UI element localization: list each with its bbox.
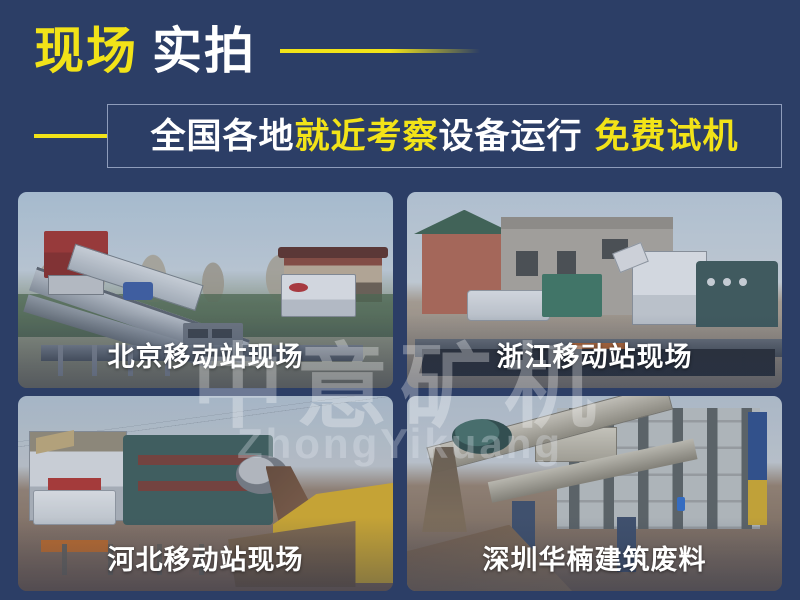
- slogan-box: 全国各地就近考察设备运行免费试机: [107, 104, 782, 168]
- photo-gallery-grid: 北京移动站现场 浙江移动站现场: [18, 192, 782, 591]
- photo-caption-zhejiang: 浙江移动站现场: [407, 335, 782, 374]
- title-rule-divider: [280, 49, 480, 53]
- slogan-part-2: 就近考察: [294, 117, 438, 156]
- header-banner: 现场 实拍 全国各地就近考察设备运行免费试机: [0, 0, 800, 185]
- photo-card-beijing[interactable]: 北京移动站现场: [18, 192, 393, 388]
- page-title-highlight: 现场: [34, 26, 138, 76]
- slogan-row: 全国各地就近考察设备运行免费试机: [34, 104, 782, 168]
- photo-card-zhejiang[interactable]: 浙江移动站现场: [407, 192, 782, 388]
- slogan-part-4: 免费试机: [595, 117, 739, 156]
- photo-caption-shenzhen: 深圳华楠建筑废料: [407, 538, 782, 577]
- slogan-part-3: 设备运行: [439, 117, 583, 156]
- photo-card-shenzhen[interactable]: 深圳华楠建筑废料: [407, 396, 782, 591]
- page-title-rest: 实拍: [152, 26, 256, 76]
- slogan-text: 全国各地就近考察设备运行免费试机: [150, 119, 738, 154]
- photo-card-hebei[interactable]: 河北移动站现场: [18, 396, 393, 591]
- slogan-left-dash: [34, 134, 108, 138]
- photo-caption-beijing: 北京移动站现场: [18, 335, 393, 374]
- photo-caption-hebei: 河北移动站现场: [18, 538, 393, 577]
- page-title: 现场 实拍: [34, 26, 480, 76]
- slogan-part-1: 全国各地: [150, 117, 294, 156]
